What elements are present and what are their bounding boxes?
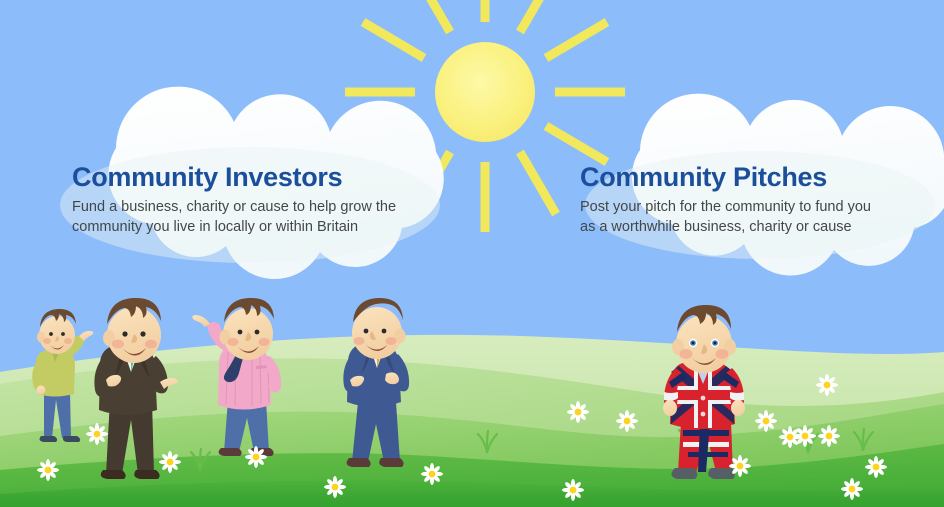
community-pitches-title: Community Pitches	[580, 163, 910, 191]
community-investors-title: Community Investors	[72, 163, 432, 191]
community-pitches-line-1: Post your pitch for the community to fun…	[580, 198, 910, 217]
community-investors-description: Fund a business, charity or cause to hel…	[72, 198, 432, 237]
community-investors-line-2: community you live in locally or within …	[72, 218, 432, 237]
community-pitches-line-2: as a worthwhile business, charity or cau…	[580, 218, 910, 237]
banner-artwork	[0, 0, 944, 507]
community-investors-line-1: Fund a business, charity or cause to hel…	[72, 198, 432, 217]
union-jack-trousers	[678, 422, 733, 472]
sun-disc	[435, 42, 535, 142]
illustration-banner: Community Investors Fund a business, cha…	[0, 0, 944, 507]
cloud-left-text-block: Community Investors Fund a business, cha…	[72, 163, 432, 237]
community-pitches-description: Post your pitch for the community to fun…	[580, 198, 910, 237]
cloud-right-text-block: Community Pitches Post your pitch for th…	[580, 163, 910, 237]
